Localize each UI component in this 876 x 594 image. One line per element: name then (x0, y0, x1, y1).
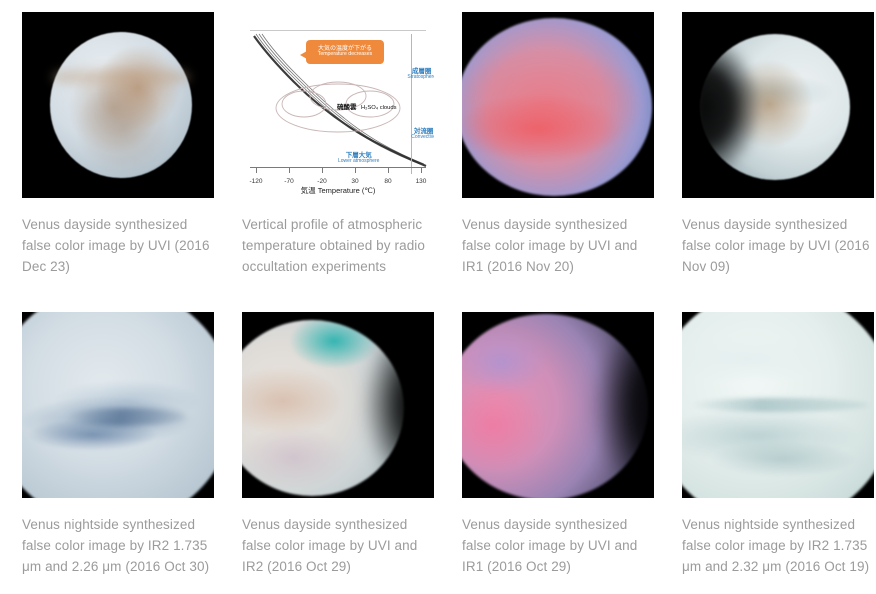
diagram-troposphere-label: 対流圏 Convective (411, 128, 434, 141)
venus-cloud-ridge (690, 398, 868, 412)
thumbnail-venus-ir2-2016-oct-30[interactable] (22, 312, 214, 498)
venus-terminator-shadow (692, 28, 800, 186)
thumbnail-vertical-temperature-profile[interactable]: 大気の温度が下がる Temperature decreases 硫酸雲 H₂SO… (242, 12, 434, 198)
image-gallery: Venus dayside synthesized false color im… (0, 0, 876, 594)
venus-disc (22, 312, 214, 498)
gallery-item-caption: Venus dayside synthesized false color im… (22, 214, 214, 277)
gallery-item-vertical-temperature-profile[interactable]: 大気の温度が下がる Temperature decreases 硫酸雲 H₂SO… (242, 12, 434, 312)
gallery-item-caption: Venus nightside synthesized false color … (682, 514, 874, 577)
venus-cloud-band (52, 64, 190, 90)
gallery-item-venus-ir2-2016-oct-19[interactable]: Venus nightside synthesized false color … (682, 312, 874, 591)
gallery-item-caption: Venus dayside synthesized false color im… (682, 214, 874, 277)
gallery-item-venus-uvi-ir1-2016-oct-29[interactable]: Venus dayside synthesized false color im… (462, 312, 654, 591)
diagram-callout: 大気の温度が下がる Temperature decreases (306, 40, 384, 64)
diagram-x-tick (355, 168, 356, 173)
diagram-x-axis (250, 167, 426, 168)
temperature-profile-diagram: 大気の温度が下がる Temperature decreases 硫酸雲 H₂SO… (242, 12, 434, 198)
gallery-item-venus-uvi-ir2-2016-oct-29[interactable]: Venus dayside synthesized false color im… (242, 312, 434, 591)
diagram-x-tick (289, 168, 290, 173)
diagram-x-tick-label: -120 (249, 178, 262, 185)
venus-disc (50, 32, 192, 178)
diagram-lower-atmosphere-label: 下層大気 Lower atmosphere (338, 152, 379, 165)
thumbnail-venus-uvi-ir2-2016-oct-29[interactable] (242, 312, 434, 498)
diagram-troposphere-en: Convective (411, 135, 434, 141)
thumbnail-venus-uvi-ir1-2016-oct-29[interactable] (462, 312, 654, 498)
gallery-item-venus-uvi-2016-dec-23[interactable]: Venus dayside synthesized false color im… (22, 12, 214, 312)
diagram-x-axis-label: 気温 Temperature (℃) (301, 185, 376, 196)
diagram-stratosphere-label: 成層圏 Stratosphere (407, 68, 434, 81)
diagram-stratosphere-en: Stratosphere (407, 75, 434, 81)
venus-cloud-streak (66, 408, 186, 426)
diagram-x-tick-label: 30 (351, 178, 358, 185)
venus-terminator-shadow (316, 312, 434, 498)
diagram-cloud-label: 硫酸雲 H₂SO₄ clouds (337, 96, 397, 114)
diagram-x-tick-label: 130 (416, 178, 427, 185)
thumbnail-venus-uvi-ir1-2016-nov-20[interactable] (462, 12, 654, 198)
diagram-callout-en: Temperature decreases (318, 52, 373, 57)
diagram-x-tick-label: 80 (384, 178, 391, 185)
diagram-cloud-label-en: H₂SO₄ clouds (361, 105, 397, 111)
diagram-x-tick-label: -20 (317, 178, 326, 185)
gallery-item-venus-uvi-ir1-2016-nov-20[interactable]: Venus dayside synthesized false color im… (462, 12, 654, 312)
diagram-x-tick-label: -70 (284, 178, 293, 185)
thumbnail-venus-uvi-2016-nov-09[interactable] (682, 12, 874, 198)
diagram-cloud-label-jp: 硫酸雲 (337, 104, 357, 111)
diagram-altitude-axis (411, 34, 412, 174)
gallery-item-venus-ir2-2016-oct-30[interactable]: Venus nightside synthesized false color … (22, 312, 214, 591)
gallery-item-caption: Venus dayside synthesized false color im… (462, 514, 654, 577)
gallery-item-venus-uvi-2016-nov-09[interactable]: Venus dayside synthesized false color im… (682, 12, 874, 312)
venus-disc (462, 18, 652, 196)
venus-terminator-shadow (548, 312, 654, 498)
diagram-x-tick (388, 168, 389, 173)
thumbnail-venus-uvi-2016-dec-23[interactable] (22, 12, 214, 198)
gallery-item-caption: Vertical profile of atmospheric temperat… (242, 214, 434, 277)
diagram-x-tick (322, 168, 323, 173)
gallery-item-caption: Venus nightside synthesized false color … (22, 514, 214, 577)
diagram-lower-atmosphere-en: Lower atmosphere (338, 159, 379, 165)
thumbnail-venus-ir2-2016-oct-19[interactable] (682, 312, 874, 498)
gallery-item-caption: Venus dayside synthesized false color im… (242, 514, 434, 577)
diagram-x-tick (421, 168, 422, 173)
diagram-x-tick (256, 168, 257, 173)
gallery-item-caption: Venus dayside synthesized false color im… (462, 214, 654, 277)
